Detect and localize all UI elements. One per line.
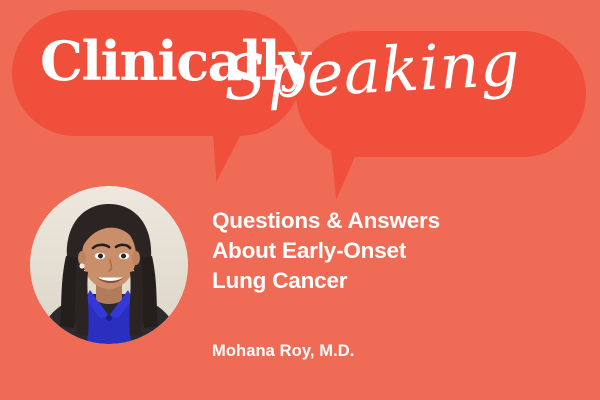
headline-line-2: About Early-Onset [212,236,592,266]
promo-card: Clinically Speaking [0,0,600,400]
portrait-illustration [30,186,188,344]
speech-bubble-front-tail [212,117,254,181]
speaker-name: Mohana Roy, M.D. [212,342,354,361]
headline-line-3: Lung Cancer [212,266,592,296]
speaker-portrait [30,186,188,344]
headline-line-1: Questions & Answers [212,206,592,236]
speech-bubble-front [12,10,302,136]
speech-bubble-back-tail [330,136,370,199]
headline: Questions & Answers About Early-Onset Lu… [212,206,592,296]
